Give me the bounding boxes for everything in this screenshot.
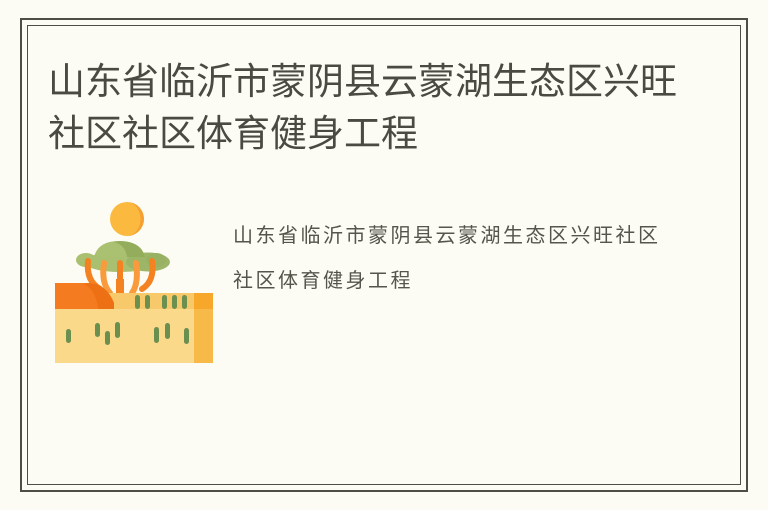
sun-icon	[110, 202, 144, 236]
caption-text: 山东省临沂市蒙阴县云蒙湖生态区兴旺社区社区体育健身工程	[233, 213, 673, 303]
page-card: 山东省临沂市蒙阴县云蒙湖生态区兴旺社区社区体育健身工程	[0, 0, 768, 510]
park-landscape-illustration	[48, 195, 213, 370]
content-row: 山东省临沂市蒙阴县云蒙湖生态区兴旺社区社区体育健身工程	[48, 195, 688, 375]
page-title: 山东省临沂市蒙阴县云蒙湖生态区兴旺社区社区体育健身工程	[48, 56, 688, 160]
